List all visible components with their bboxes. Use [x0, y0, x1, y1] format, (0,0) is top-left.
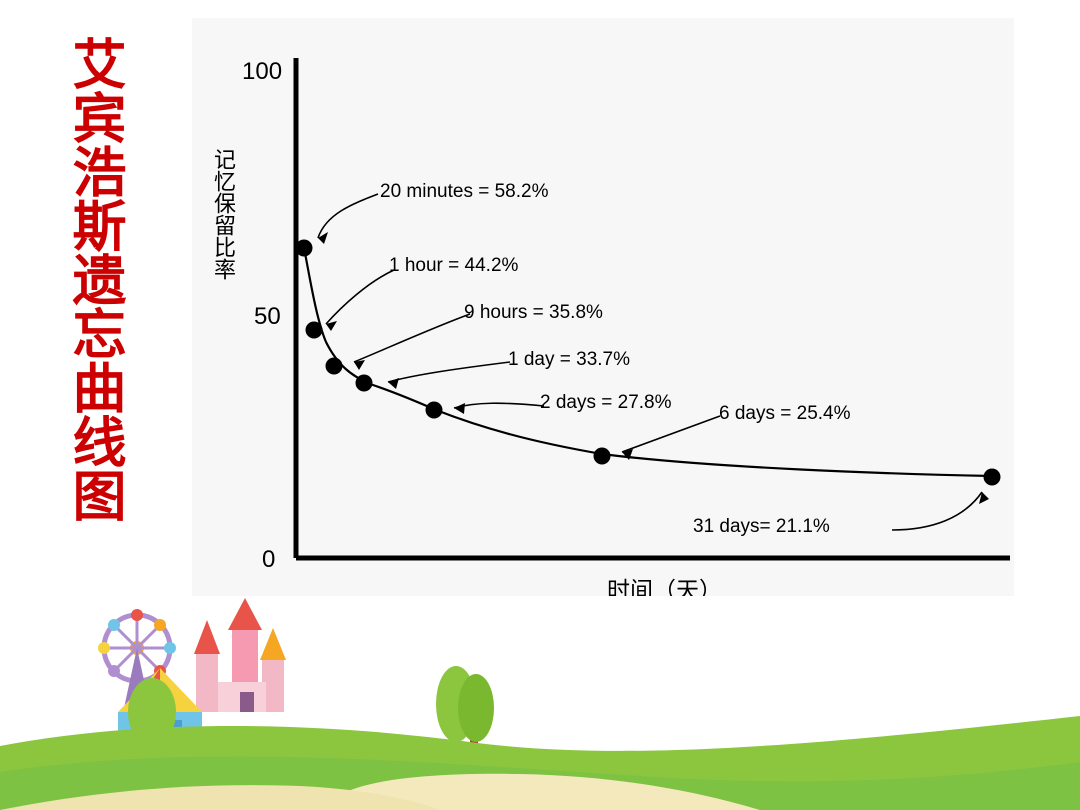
annotation-1-day: 1 day = 33.7%: [508, 349, 630, 371]
annotation-1-hour: 1 hour = 44.2%: [389, 255, 518, 277]
data-point-1hour: [306, 322, 323, 339]
annotation-31-days: 31 days= 21.1%: [693, 516, 830, 538]
annotation-6-days: 6 days = 25.4%: [719, 403, 851, 425]
data-point-1day: [356, 375, 373, 392]
data-point-20min: [296, 240, 313, 257]
chart-panel: 记忆保留比率 100 50 0: [192, 18, 1014, 596]
decorative-landscape-illustration: [0, 596, 1080, 810]
forgetting-curve-plot: [192, 18, 1014, 596]
annotation-20-minutes: 20 minutes = 58.2%: [380, 181, 548, 203]
data-point-2days: [426, 402, 443, 419]
data-point-6days: [594, 448, 611, 465]
annotation-9-hours: 9 hours = 35.8%: [464, 302, 603, 324]
data-point-31days: [984, 469, 1001, 486]
page-title: 艾宾浩斯遗忘曲线图: [42, 36, 122, 522]
annotation-2-days: 2 days = 27.8%: [540, 392, 672, 414]
data-point-9hours: [326, 358, 343, 375]
